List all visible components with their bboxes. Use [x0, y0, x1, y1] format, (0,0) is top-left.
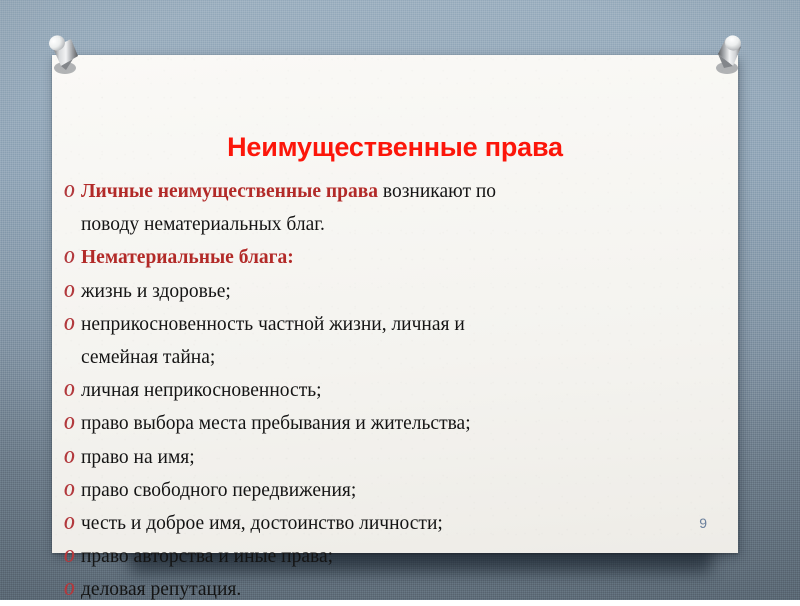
bullet-marker-icon: O: [64, 308, 78, 341]
bullet-item: Oчесть и доброе имя, достоинство личност…: [64, 507, 736, 540]
bullet-marker-icon: O: [64, 175, 78, 208]
bullet-text-segment: право авторства и иные права;: [81, 546, 333, 567]
bullet-item: Oправо на имя;: [64, 441, 736, 474]
bullet-item: Oправо свободного передвижения;: [64, 474, 736, 507]
bullet-text-segment: право свободного передвижения;: [81, 480, 356, 501]
bullet-marker-icon: O: [64, 241, 78, 274]
bullet-list: OЛичные неимущественные права возникают …: [64, 175, 736, 606]
bullet-marker-icon: O: [64, 540, 78, 573]
bullet-text-segment: неприкосновенность частной жизни, личная…: [81, 314, 465, 335]
bullet-item: Oнеприкосновенность частной жизни, лична…: [64, 308, 736, 341]
bullet-marker-icon: O: [64, 374, 78, 407]
bullet-item: Oделовая репутация.: [64, 573, 736, 606]
bullet-item: Oправо авторства и иные права;: [64, 540, 736, 573]
bullet-item: Oжизнь и здоровье;: [64, 275, 736, 308]
bullet-text-segment: личная неприкосновенность;: [81, 380, 322, 401]
bullet-text-segment: право на имя;: [81, 447, 195, 468]
bullet-item-continuation: семейная тайна;: [64, 341, 736, 374]
bullet-marker-icon: O: [64, 474, 78, 507]
bullet-item: Oличная неприкосновенность;: [64, 374, 736, 407]
bullet-text-segment: честь и доброе имя, достоинство личности…: [81, 513, 443, 534]
bullet-marker-icon: O: [64, 507, 78, 540]
bullet-item-continuation: поводу нематериальных благ.: [64, 208, 736, 241]
page-number: 9: [699, 515, 707, 531]
bullet-marker-icon: O: [64, 275, 78, 308]
bullet-indent-spacer: [64, 341, 81, 374]
bullet-text-segment: Личные неимущественные права: [81, 181, 383, 202]
bullet-text-segment: жизнь и здоровье;: [81, 281, 231, 302]
bullet-marker-icon: O: [64, 441, 78, 474]
bullet-marker-icon: O: [64, 407, 78, 440]
bullet-text-segment: право выбора места пребывания и жительст…: [81, 413, 471, 434]
bullet-marker-icon: O: [64, 573, 78, 606]
bullet-indent-spacer: [64, 208, 81, 241]
bullet-item: OНематериальные блага:: [64, 241, 736, 274]
bullet-item: OЛичные неимущественные права возникают …: [64, 175, 736, 208]
slide-title: Неимущественные права: [52, 132, 738, 163]
paper-sheet: Неимущественные права OЛичные неимуществ…: [52, 55, 738, 553]
bullet-text-segment: Нематериальные блага:: [81, 247, 294, 268]
bullet-text-segment: семейная тайна;: [81, 347, 215, 368]
bullet-item: Oправо выбора места пребывания и жительс…: [64, 407, 736, 440]
bullet-text-segment: поводу нематериальных благ.: [81, 214, 325, 235]
bullet-text-segment: возникают по: [383, 181, 496, 202]
bullet-text-segment: деловая репутация.: [81, 579, 241, 600]
slide-canvas: Неимущественные права OЛичные неимуществ…: [0, 0, 800, 600]
